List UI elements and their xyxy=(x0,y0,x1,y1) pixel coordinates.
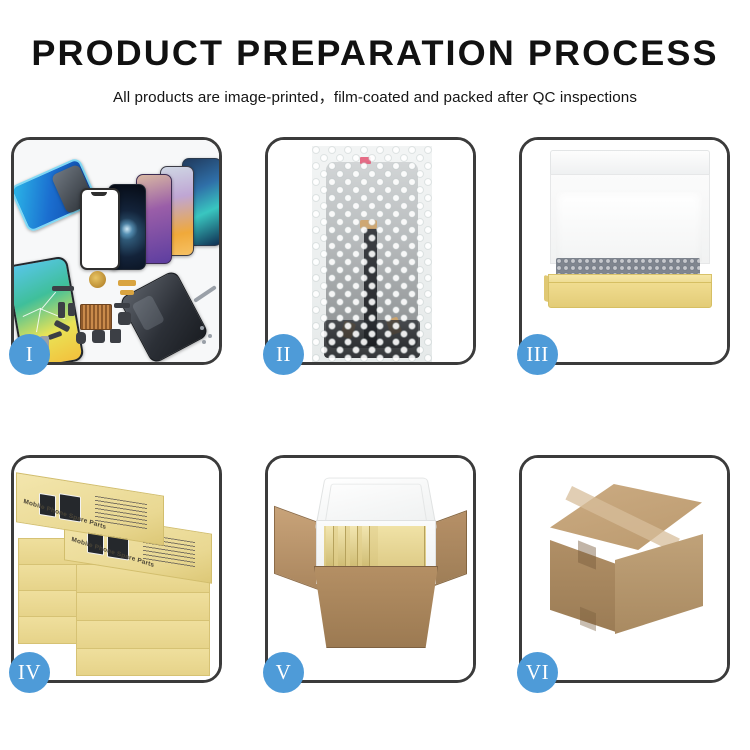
flex-connector-part xyxy=(120,290,134,295)
small-part xyxy=(52,286,74,291)
copper-coil-part xyxy=(89,271,106,288)
step-badge-2: II xyxy=(263,334,304,375)
page-title: PRODUCT PREPARATION PROCESS xyxy=(0,34,750,74)
step-badge-4: IV xyxy=(9,652,50,693)
bubble-texture xyxy=(312,146,432,362)
camera-module-part xyxy=(92,330,105,343)
battery-part xyxy=(110,329,121,343)
step-panel-1[interactable]: I xyxy=(11,137,222,365)
step-panel-5[interactable]: V xyxy=(265,455,476,683)
carton-body xyxy=(314,566,438,648)
step-badge-3: III xyxy=(517,334,558,375)
small-part xyxy=(68,303,75,316)
yellow-box-tray xyxy=(548,282,712,308)
copper-shield-part xyxy=(80,304,112,330)
step-panel-3[interactable]: III xyxy=(519,137,730,365)
yellow-boxes-inside xyxy=(324,526,426,570)
screw-part xyxy=(200,326,204,330)
bubble-wrap-bag xyxy=(312,146,432,362)
step-4-image: Mobile Phone Spare Parts Mobile Phone Sp… xyxy=(14,458,219,680)
step-3-image xyxy=(522,140,727,362)
small-part xyxy=(58,302,65,318)
stacked-retail-boxes: Mobile Phone Spare Parts Mobile Phone Sp… xyxy=(18,476,218,672)
page-header: PRODUCT PREPARATION PROCESS All products… xyxy=(0,0,750,107)
step-panel-4[interactable]: Mobile Phone Spare Parts Mobile Phone Sp… xyxy=(11,455,222,683)
step-5-image xyxy=(268,458,473,680)
step-panel-2[interactable]: II xyxy=(265,137,476,365)
process-steps-grid: I II xyxy=(11,137,739,683)
step-badge-1: I xyxy=(9,334,50,375)
screw-part xyxy=(202,340,206,344)
white-bezel-screen-graphic xyxy=(80,188,120,270)
small-part xyxy=(118,312,131,325)
step-6-image xyxy=(522,458,727,680)
step-2-image xyxy=(268,140,473,362)
small-part xyxy=(114,303,130,308)
step-badge-5: V xyxy=(263,652,304,693)
page-subtitle: All products are image-printed，film-coat… xyxy=(0,85,750,107)
flex-connector-part xyxy=(118,280,136,286)
white-foam-sheet xyxy=(556,192,702,262)
step-badge-6: VI xyxy=(517,652,558,693)
step-1-image xyxy=(14,140,219,362)
stacked-box xyxy=(76,592,210,622)
speaker-part xyxy=(76,332,86,344)
step-panel-6[interactable]: VI xyxy=(519,455,730,683)
stacked-box xyxy=(76,648,210,676)
screw-part xyxy=(208,334,212,338)
stacked-box xyxy=(76,620,210,650)
